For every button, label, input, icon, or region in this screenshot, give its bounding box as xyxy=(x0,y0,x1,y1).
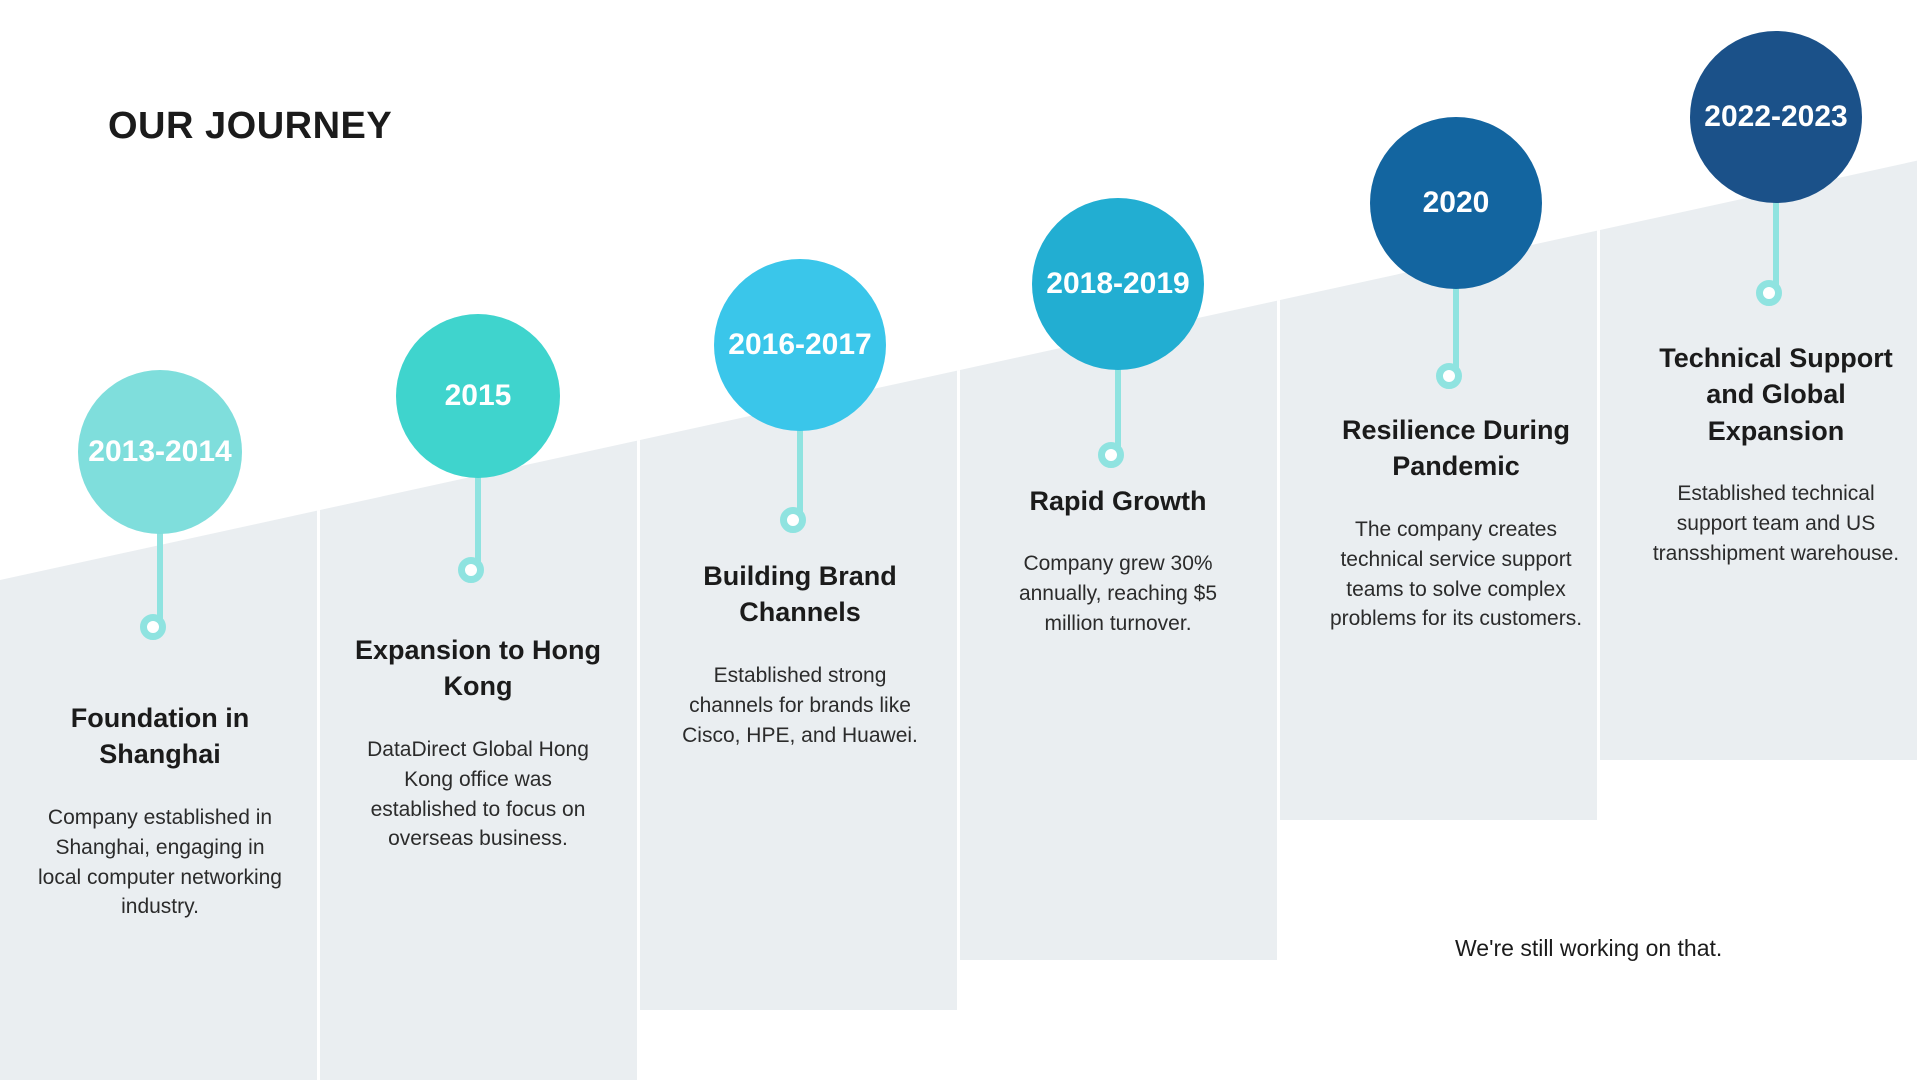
timeline-item[interactable]: 2022-2023Technical Support and Global Ex… xyxy=(1628,0,1920,1080)
year-bubble[interactable]: 2022-2023 xyxy=(1690,31,1862,203)
item-description: Established strong channels for brands l… xyxy=(652,661,948,750)
connector-knob xyxy=(458,557,484,583)
item-description: Company established in Shanghai, engagin… xyxy=(12,803,308,922)
year-bubble[interactable]: 2020 xyxy=(1370,117,1542,289)
item-description: Established technical support team and U… xyxy=(1628,479,1920,568)
timeline-item[interactable]: 2013-2014Foundation in ShanghaiCompany e… xyxy=(12,0,308,1080)
connector-knob xyxy=(1436,363,1462,389)
connector-knob xyxy=(140,614,166,640)
timeline-infographic: OUR JOURNEY 2013-2014Foundation in Shang… xyxy=(0,0,1920,1080)
timeline-item[interactable]: 2016-2017Building Brand ChannelsEstablis… xyxy=(652,0,948,1080)
timeline-item[interactable]: 2015Expansion to Hong KongDataDirect Glo… xyxy=(330,0,626,1080)
footer-note: We're still working on that. xyxy=(1455,935,1722,962)
timeline-item[interactable]: 2020Resilience During PandemicThe compan… xyxy=(1308,0,1604,1080)
connector-knob xyxy=(1098,442,1124,468)
year-bubble[interactable]: 2013-2014 xyxy=(78,370,242,534)
item-heading: Technical Support and Global Expansion xyxy=(1628,340,1920,449)
item-description: Company grew 30% annually, reaching $5 m… xyxy=(970,549,1266,638)
item-heading: Expansion to Hong Kong xyxy=(330,632,626,705)
timeline-item[interactable]: 2018-2019Rapid GrowthCompany grew 30% an… xyxy=(970,0,1266,1080)
connector-knob xyxy=(1756,280,1782,306)
year-bubble[interactable]: 2016-2017 xyxy=(714,259,886,431)
item-heading: Foundation in Shanghai xyxy=(12,700,308,773)
connector-knob xyxy=(780,507,806,533)
item-heading: Resilience During Pandemic xyxy=(1308,412,1604,485)
item-heading: Building Brand Channels xyxy=(652,558,948,631)
item-description: The company creates technical service su… xyxy=(1308,515,1604,634)
year-bubble[interactable]: 2018-2019 xyxy=(1032,198,1204,370)
year-bubble[interactable]: 2015 xyxy=(396,314,560,478)
item-heading: Rapid Growth xyxy=(970,483,1266,519)
item-description: DataDirect Global Hong Kong office was e… xyxy=(330,735,626,854)
